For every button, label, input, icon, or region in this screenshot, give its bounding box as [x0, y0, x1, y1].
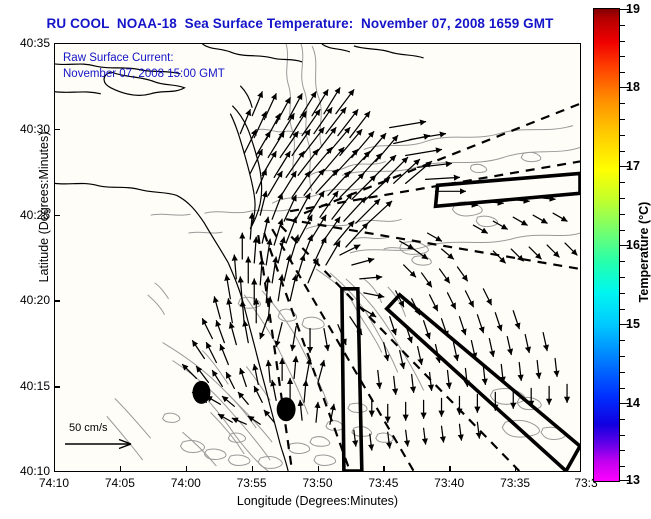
vector-scale-label: 50 cm/s — [69, 422, 141, 434]
colorbar-minor-tick — [620, 277, 625, 278]
colorbar-minor-tick — [620, 388, 625, 389]
colorbar-minor-tick — [620, 435, 625, 436]
y-tick — [54, 215, 60, 216]
coastline — [55, 44, 424, 471]
x-tick — [252, 466, 253, 472]
x-tick-label: 74:05 — [105, 476, 135, 490]
x-tick — [186, 466, 187, 472]
x-tick — [120, 466, 121, 472]
station-marker — [192, 381, 210, 404]
colorbar-title: Temperature (°C) — [637, 157, 651, 347]
x-tick-label: 74:10 — [39, 476, 69, 490]
x-tick — [580, 466, 581, 472]
x-tick-label: 73:35 — [500, 476, 530, 490]
figure-title: RU COOL NOAA-18 Sea Surface Temperature:… — [0, 16, 600, 31]
y-tick — [54, 129, 60, 130]
x-tick — [449, 466, 450, 472]
map-canvas — [55, 44, 580, 471]
colorbar-minor-tick — [620, 198, 625, 199]
y-tick-label: 40:35 — [20, 36, 50, 50]
colorbar-minor-tick — [620, 41, 625, 42]
colorbar-minor-tick — [620, 419, 625, 420]
colorbar-minor-tick — [620, 230, 625, 231]
radial-range-lines — [258, 104, 580, 471]
colorbar-minor-tick — [620, 151, 625, 152]
colorbar-minor-tick — [620, 103, 625, 104]
colorbar-minor-tick — [620, 466, 625, 467]
y-axis-title: Latitude (Degrees:Minutes) — [37, 77, 51, 337]
y-tick-label: 40:15 — [20, 379, 50, 393]
y-tick — [54, 300, 60, 301]
colorbar-minor-tick — [620, 72, 625, 73]
colorbar-tick-label: 14 — [626, 396, 640, 410]
colorbar-minor-tick — [620, 261, 625, 262]
colorbar-minor-tick — [620, 372, 625, 373]
figure-root: RU COOL NOAA-18 Sea Surface Temperature:… — [0, 0, 651, 519]
colorbar-tick-label: 18 — [626, 80, 640, 94]
y-tick-label: 40:10 — [20, 464, 50, 478]
colorbar-minor-tick — [620, 450, 625, 451]
colorbar-minor-tick — [620, 309, 625, 310]
colorbar-minor-tick — [620, 293, 625, 294]
x-tick-label: 73:50 — [302, 476, 332, 490]
x-tick — [515, 466, 516, 472]
colorbar-minor-tick — [620, 56, 625, 57]
colorbar-minor-tick — [620, 182, 625, 183]
x-tick — [383, 466, 384, 472]
colorbar-minor-tick — [620, 356, 625, 357]
colorbar-tick-label: 13 — [626, 473, 640, 487]
x-axis-title: Longitude (Degrees:Minutes) — [54, 494, 581, 508]
vector-scale-arrow-icon — [61, 436, 141, 452]
x-tick-label: 73:55 — [237, 476, 267, 490]
x-tick — [318, 466, 319, 472]
y-tick — [54, 43, 60, 44]
vector-scale-key: 50 cm/s — [61, 422, 141, 455]
colorbar-minor-tick — [620, 119, 625, 120]
x-tick-label: 73:40 — [434, 476, 464, 490]
colorbar-minor-tick — [620, 214, 625, 215]
map-plot-area: Raw Surface Current: November 07, 2008 1… — [54, 43, 581, 472]
x-tick-label: 74:00 — [171, 476, 201, 490]
x-tick-label: 73:45 — [368, 476, 398, 490]
colorbar-minor-tick — [620, 135, 625, 136]
y-tick — [54, 386, 60, 387]
colorbar-tick-label: 19 — [626, 2, 640, 16]
colorbar-minor-tick — [620, 25, 625, 26]
colorbar-minor-tick — [620, 340, 625, 341]
y-tick — [54, 471, 60, 472]
station-marker — [277, 397, 296, 421]
